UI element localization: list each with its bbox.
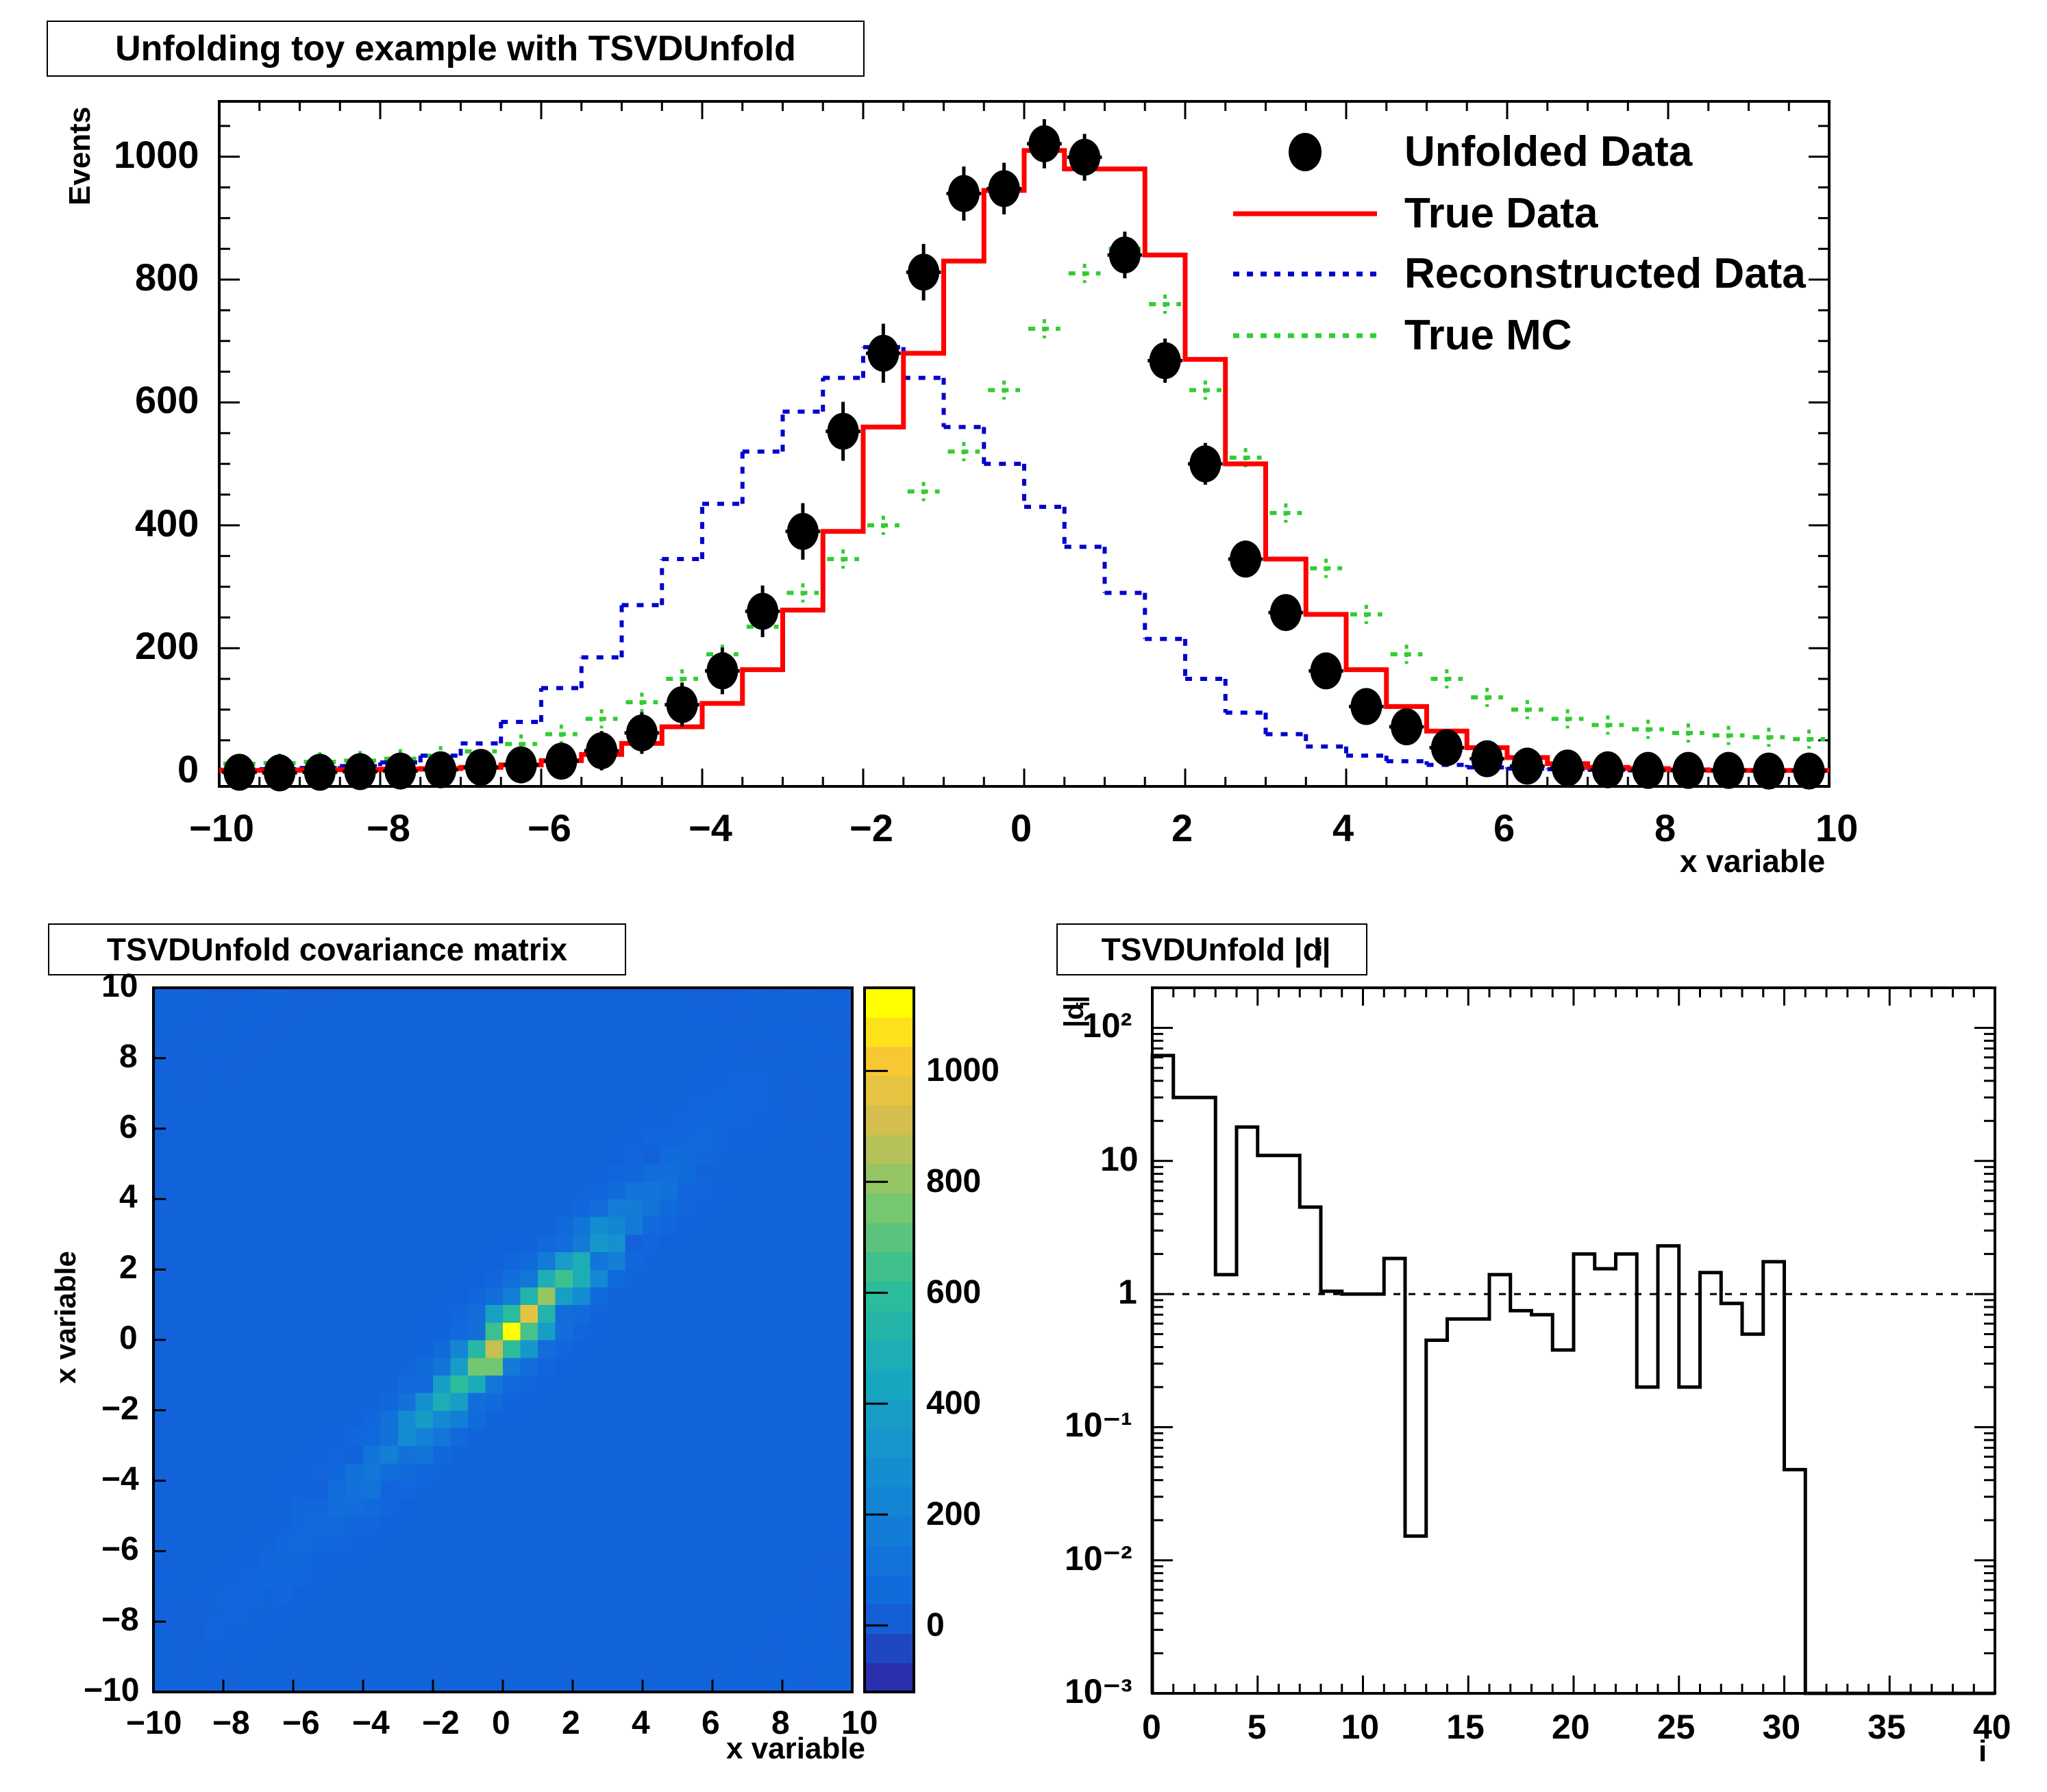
tick-label: −6 xyxy=(101,1530,139,1568)
tick-label: 10 xyxy=(1341,1707,1380,1747)
tick-label: 800 xyxy=(926,1162,981,1200)
tick-label: −8 xyxy=(212,1704,250,1742)
tick-label: 10 xyxy=(101,967,138,1005)
tick-label: 4 xyxy=(632,1704,650,1742)
tick-label: 1000 xyxy=(114,132,199,177)
tick-label: 2 xyxy=(562,1704,580,1742)
tick-label: 800 xyxy=(135,255,199,299)
tick-label: 2 xyxy=(1171,806,1193,850)
tick-label: 600 xyxy=(926,1273,981,1311)
tick-label: −10 xyxy=(189,806,254,850)
tick-label: −4 xyxy=(101,1460,139,1498)
canvas: Unfolding toy example with TSVDUnfold Ev… xyxy=(0,0,2047,1792)
di-plot-panel: TSVDUnfold |d|i |d|i i 10⁻³10⁻²10⁻¹11010… xyxy=(993,891,2047,1792)
tick-label: −4 xyxy=(352,1704,390,1742)
tick-label: 8 xyxy=(1654,806,1676,850)
tick-label: 5 xyxy=(1248,1707,1267,1747)
tick-label: −8 xyxy=(367,806,410,850)
tick-label: 10² xyxy=(1082,1006,1132,1045)
tick-label: 35 xyxy=(1868,1707,1906,1747)
di-svg xyxy=(993,891,2047,1792)
main-plot-panel: Unfolding toy example with TSVDUnfold Ev… xyxy=(0,0,2047,891)
tick-label: 10⁻¹ xyxy=(1065,1405,1132,1445)
tick-label: −2 xyxy=(849,806,893,850)
tick-label: 2 xyxy=(119,1249,138,1286)
legend-item-label: True Data xyxy=(1404,189,1598,238)
tick-label: −10 xyxy=(126,1704,182,1742)
series-true-data xyxy=(219,151,1829,771)
tick-label: 0 xyxy=(119,1319,138,1357)
tick-label: −6 xyxy=(282,1704,320,1742)
tick-label: 200 xyxy=(926,1495,981,1533)
tick-label: 1000 xyxy=(926,1051,1000,1089)
tick-label: 10 xyxy=(841,1704,878,1742)
tick-label: 20 xyxy=(1552,1707,1590,1747)
tick-label: −4 xyxy=(688,806,732,850)
tick-label: 8 xyxy=(119,1038,138,1075)
tick-label: −10 xyxy=(84,1671,139,1709)
tick-label: 600 xyxy=(135,377,199,422)
tick-label: 400 xyxy=(926,1384,981,1422)
tick-label: 6 xyxy=(119,1108,138,1146)
tick-label: 400 xyxy=(135,501,199,545)
tick-label: 0 xyxy=(1142,1707,1161,1747)
main-plot-svg xyxy=(0,0,2047,891)
tick-label: 4 xyxy=(119,1178,138,1216)
tick-label: 10⁻² xyxy=(1065,1539,1132,1578)
legend-item-label: Unfolded Data xyxy=(1404,127,1692,176)
tick-label: 200 xyxy=(135,623,199,668)
covariance-svg xyxy=(0,891,993,1792)
tick-label: 0 xyxy=(492,1704,510,1742)
tick-label: 10 xyxy=(1815,806,1858,850)
tick-label: 8 xyxy=(771,1704,790,1742)
tick-label: 4 xyxy=(1332,806,1354,850)
legend-marker-icon xyxy=(1289,133,1322,171)
tick-label: −2 xyxy=(101,1390,139,1428)
tick-label: 40 xyxy=(1973,1707,2011,1747)
tick-label: 6 xyxy=(702,1704,720,1742)
tick-label: 30 xyxy=(1763,1707,1801,1747)
tick-label: −6 xyxy=(528,806,571,850)
legend-item-label: Reconstructed Data xyxy=(1404,249,1806,298)
tick-label: 25 xyxy=(1657,1707,1696,1747)
tick-label: 10⁻³ xyxy=(1065,1671,1132,1711)
tick-label: −8 xyxy=(101,1601,139,1639)
covariance-plot-panel: TSVDUnfold covariance matrix x variable … xyxy=(0,891,993,1792)
tick-label: 0 xyxy=(1010,806,1032,850)
tick-label: 0 xyxy=(926,1606,945,1644)
tick-label: −2 xyxy=(422,1704,460,1742)
legend-item-label: True MC xyxy=(1404,311,1572,360)
tick-label: 0 xyxy=(177,747,199,791)
tick-label: 1 xyxy=(1118,1272,1137,1312)
tick-label: 10 xyxy=(1100,1139,1139,1179)
tick-label: 6 xyxy=(1493,806,1515,850)
tick-label: 15 xyxy=(1446,1707,1485,1747)
series-reconstructed-data xyxy=(219,347,1829,771)
